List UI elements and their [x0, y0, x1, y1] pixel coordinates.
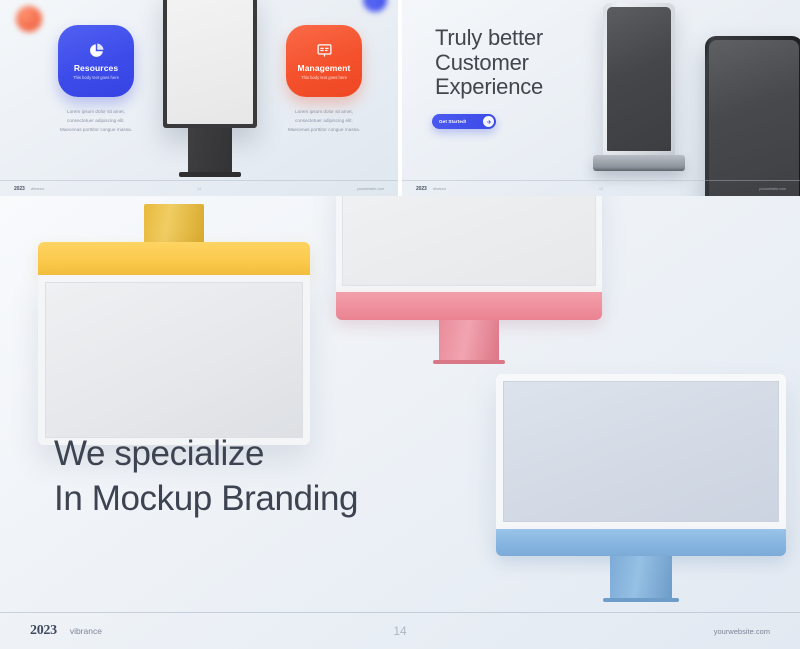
signage-screen [607, 7, 671, 151]
imac-color-band [336, 292, 602, 320]
feature-card-title: Management [298, 64, 351, 73]
feature-body-text: Lorem ipsum dolor sit amet, consectetuer… [286, 107, 362, 135]
footer-page-number: 14 [393, 624, 406, 638]
digital-signage-mockup-2 [705, 36, 800, 196]
footer-brand: vibrance [433, 187, 447, 191]
main-headline-line2: In Mockup Branding [54, 477, 358, 522]
imac-stand-neck [439, 320, 499, 360]
footer-brand: vibrance [31, 187, 45, 191]
footer-year: 2023 [30, 623, 57, 639]
footer-website: yourwebsite.com [759, 187, 786, 191]
feature-card-blue[interactable]: Resources This body text goes here [58, 25, 134, 97]
feature-card-subtitle: This body text goes here [73, 75, 119, 82]
imac-stand-foot [433, 360, 505, 364]
imac-color-band [38, 242, 310, 275]
footer-website: yourwebsite.com [714, 627, 770, 636]
footer-website: yourwebsite.com [357, 187, 384, 191]
hero-title: Truly better Customer Experience [435, 26, 543, 100]
kiosk-screen [163, 0, 257, 128]
hero-title-line3: Experience [435, 75, 543, 100]
feature-management[interactable]: Management This body text goes here Lore… [286, 25, 362, 135]
imac-mockup-yellow [38, 204, 310, 445]
kiosk-neck [188, 128, 232, 172]
kiosk-foot [179, 172, 241, 177]
kiosk-mockup-center [163, 0, 257, 190]
imac-screen [45, 282, 303, 438]
imac-mockup-pink [336, 196, 602, 364]
imac-screen [503, 381, 779, 522]
footer-page-number: 13 [599, 187, 603, 191]
feature-body-text: Lorem ipsum dolor sit amet, consectetuer… [58, 107, 134, 135]
arrow-right-icon [483, 116, 494, 127]
signage-frame [603, 3, 675, 155]
footer-year: 2023 [14, 186, 25, 192]
signage-base [593, 155, 685, 171]
footer-page-number: 13 [197, 187, 201, 191]
imac-bezel [496, 374, 786, 529]
footer-brand: vibrance [70, 626, 102, 636]
footer-year: 2023 [416, 186, 427, 192]
signage-screen [709, 40, 799, 196]
imac-stand-neck [144, 204, 204, 242]
get-started-button[interactable]: Get Started! [432, 114, 496, 129]
main-slide-footer: 2023 vibrance 14 yourwebsite.com [0, 612, 800, 649]
imac-bezel [38, 275, 310, 445]
feature-resources[interactable]: Resources This body text goes here Lorem… [58, 25, 134, 135]
imac-stand-foot [603, 598, 679, 602]
imac-stand-neck [610, 556, 672, 598]
pie-chart-icon [88, 42, 105, 59]
hero-title-line1: Truly better [435, 26, 543, 51]
slide-canvas: Resources This body text goes here Lorem… [0, 0, 800, 649]
imac-bezel [336, 196, 602, 292]
imac-mockup-blue [496, 374, 786, 602]
imac-color-band [496, 529, 786, 556]
slide-thumbnail-features[interactable]: Resources This body text goes here Lorem… [0, 0, 398, 196]
presentation-board-icon [316, 42, 333, 59]
thumbnail-footer-left: 2023 vibrance 13 yourwebsite.com [0, 180, 398, 196]
top-thumbnail-row: Resources This body text goes here Lorem… [0, 0, 800, 196]
imac-screen [342, 196, 596, 286]
slide-thumbnail-hero[interactable]: Truly better Customer Experience Get Sta… [402, 0, 800, 196]
main-headline: We specialize In Mockup Branding [54, 432, 358, 522]
thumbnail-footer-right: 2023 vibrance 13 yourwebsite.com [402, 180, 800, 196]
decorative-blue-circle [363, 0, 387, 12]
feature-card-orange[interactable]: Management This body text goes here [286, 25, 362, 97]
main-slide: We specialize In Mockup Branding Pellent… [0, 196, 800, 649]
feature-card-title: Resources [74, 64, 118, 73]
kiosk-screen-display [167, 0, 253, 124]
main-headline-line1: We specialize [54, 432, 358, 477]
hero-title-line2: Customer [435, 51, 543, 76]
decorative-orange-circle [16, 6, 42, 32]
feature-card-subtitle: This body text goes here [301, 75, 347, 82]
get-started-label: Get Started! [439, 119, 467, 124]
digital-signage-mockup-1 [603, 3, 675, 171]
